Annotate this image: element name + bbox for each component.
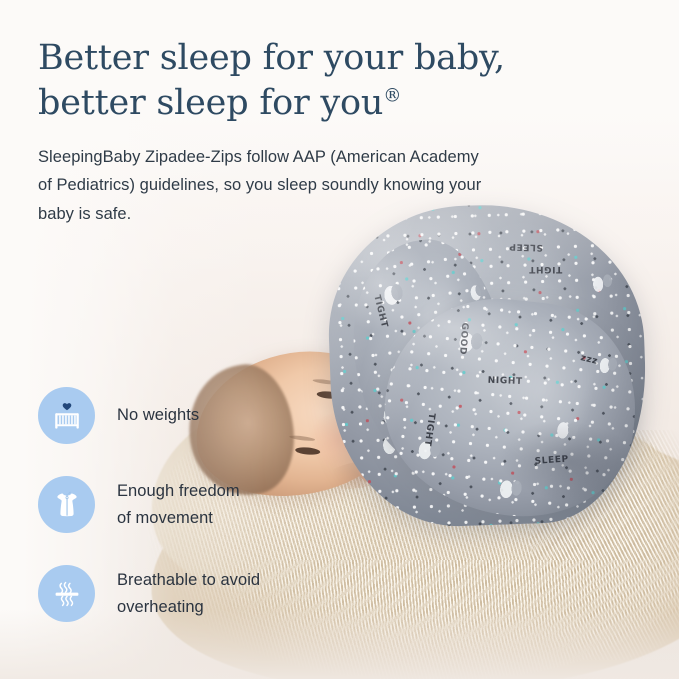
crib-with-heart-icon [38,387,95,444]
feature-item-breathable: Breathable to avoid overheating [38,565,338,622]
feature-item-freedom-of-movement: Enough freedom of movement [38,476,338,533]
feature-label-no-weights: No weights [117,402,199,428]
feature-list: No weights Enough freedom of movement [38,387,338,622]
feature-label-freedom-of-movement: Enough freedom of movement [117,478,240,530]
airflow-heat-waves-icon [38,565,95,622]
registered-trademark-icon: ® [383,85,401,106]
copy-layer: Better sleep for your baby, better sleep… [0,0,679,679]
page-title: Better sleep for your baby, better sleep… [38,36,558,126]
subheading-copy: SleepingBaby Zipadee-Zips follow AAP (Am… [38,143,483,228]
sleep-sack-zipper-icon [38,476,95,533]
headline-line-2: better sleep for you [38,83,383,123]
headline-line-1: Better sleep for your baby, [38,38,505,78]
feature-label-breathable: Breathable to avoid overheating [117,567,260,619]
product-feature-panel: SLEEP TIGHT GOOD NIGHT TIGHT SLEEP zzz &… [0,0,679,679]
feature-item-no-weights: No weights [38,387,338,444]
